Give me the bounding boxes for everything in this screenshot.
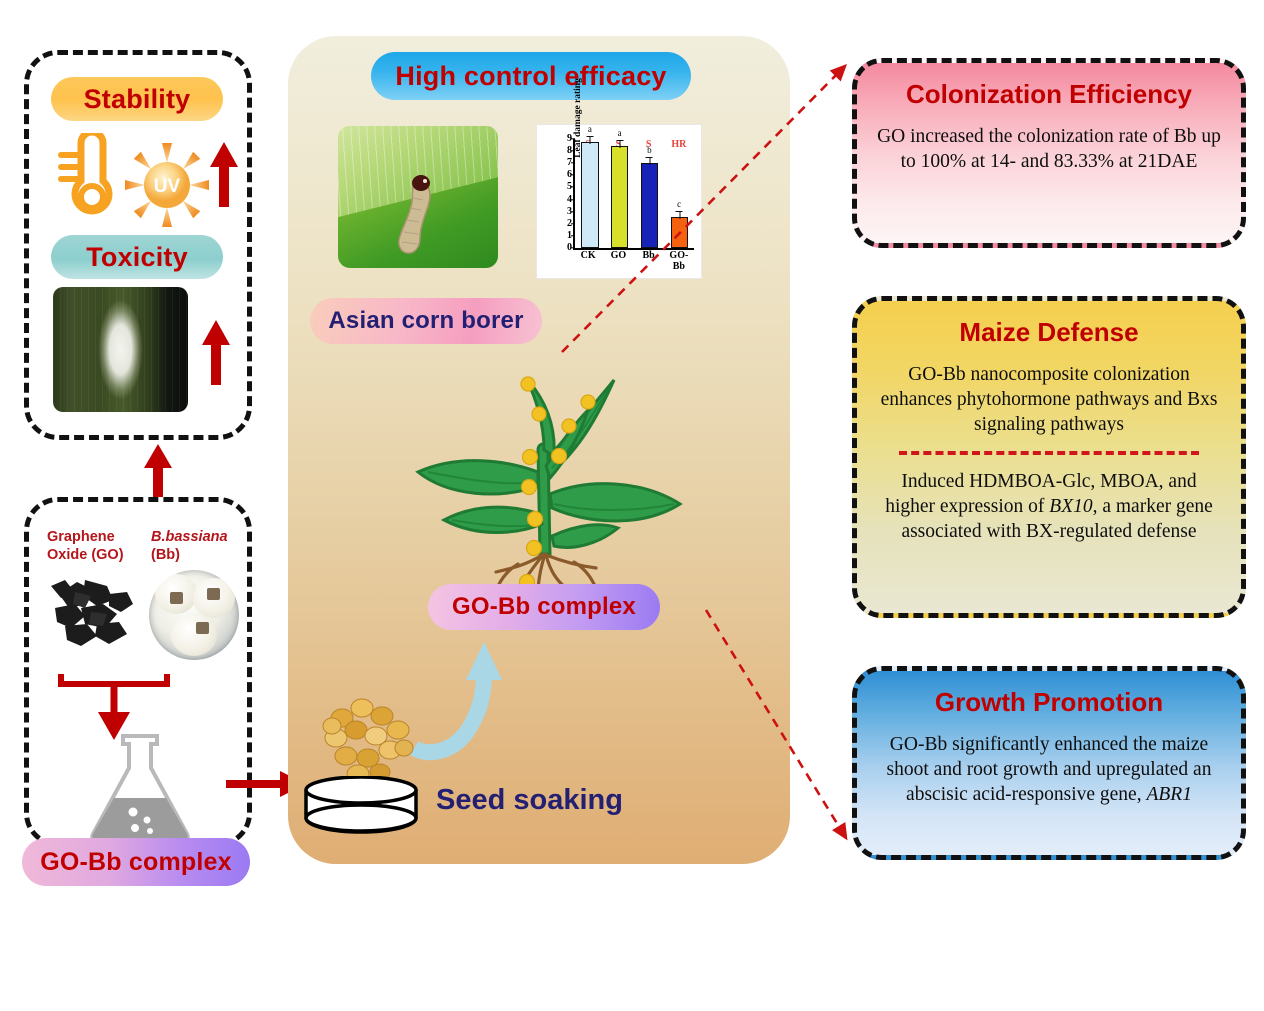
chart-plot-area: Leaf damage rating 0123456789 aabc — [573, 139, 694, 250]
seed-soaking-label: Seed soaking — [436, 784, 623, 817]
panel-divider-dashed — [899, 451, 1199, 455]
xtick-bb: Bb — [634, 250, 664, 272]
petri-dish — [302, 776, 420, 836]
chart-x-ticks: CK GO Bb GO-Bb — [573, 250, 694, 272]
chart-bar-cell: b — [635, 139, 665, 248]
chart-bar-cell: a — [605, 139, 635, 248]
chart-bars: aabc — [575, 139, 694, 248]
gene-name-bx10: BX10 — [1049, 496, 1092, 517]
bb-abbrev-label: (Bb) — [151, 546, 180, 564]
leaf-damage-bar-chart: S S S HR Leaf damage rating 0123456789 a… — [536, 124, 702, 279]
chart-bar-go: a — [611, 146, 628, 248]
asian-corn-borer-larva-photo — [338, 126, 498, 268]
stability-badge: Stability — [51, 77, 223, 121]
panel-title-growth-promotion: Growth Promotion — [857, 687, 1241, 718]
xtick-go: GO — [603, 250, 633, 272]
graphical-abstract: Stability — [0, 0, 1264, 1011]
panel-body-maize-defense-bottom: Induced HDMBOA-Glc, MBOA, and higher exp… — [857, 469, 1241, 544]
graphene-oxide-label: Graphene Oxide (GO) — [47, 528, 124, 564]
chart-bar-letter: b — [647, 145, 652, 155]
maize-defense-panel: Maize Defense GO-Bb nanocomposite coloni… — [852, 296, 1246, 618]
uv-sun-icon: UV — [117, 139, 217, 231]
toxicity-badge: Toxicity — [51, 235, 223, 279]
gobb-complex-badge-left: GO-Bb complex — [22, 838, 250, 886]
up-arrow-icon — [199, 317, 233, 389]
beauveria-bassiana-culture-dish — [149, 570, 239, 660]
chart-bar-letter: a — [588, 124, 592, 134]
graphene-oxide-powder-photo — [47, 574, 139, 656]
chart-bar-letter: c — [677, 199, 681, 209]
chart-bar-go-bb: c — [671, 217, 688, 248]
panel-title-colonization: Colonization Efficiency — [857, 79, 1241, 110]
chart-bar-bb: b — [641, 163, 658, 248]
gobb-complex-badge-center: GO-Bb complex — [428, 584, 660, 630]
xtick-gobb: GO-Bb — [664, 250, 694, 272]
high-control-efficacy-badge: High control efficacy — [371, 52, 691, 100]
chart-bar-cell: a — [575, 139, 605, 248]
panel-body-maize-defense-top: GO-Bb nanocomposite colonization enhance… — [857, 362, 1241, 437]
left-panels-connector-arrow — [138, 442, 178, 500]
up-arrow-icon — [207, 139, 241, 211]
chart-bar-letter: a — [618, 128, 622, 138]
panel-title-maize-defense: Maize Defense — [857, 317, 1241, 348]
center-workflow-panel: High control efficacy Asian corn borer — [288, 36, 790, 864]
bbassiana-label: B.bassiana — [151, 528, 228, 546]
erlenmeyer-flask-icon — [77, 730, 203, 846]
fungus-infected-leaf-photo — [53, 287, 188, 412]
panel-body-colonization: GO increased the colonization rate of Bb… — [857, 124, 1241, 174]
uv-label: UV — [154, 176, 181, 197]
graphene-line2: Oxide (GO) — [47, 547, 124, 563]
go-bb-synthesis-panel: Graphene Oxide (GO) B.bassiana (Bb) — [24, 497, 252, 847]
colonization-efficiency-panel: Colonization Efficiency GO increased the… — [852, 58, 1246, 248]
xtick-ck: CK — [573, 250, 603, 272]
panel-body-growth-promotion: GO-Bb significantly enhanced the maize s… — [857, 732, 1241, 807]
chart-bar-ck: a — [581, 142, 598, 248]
graphene-line1: Graphene — [47, 529, 115, 545]
chart-bar-cell: c — [664, 139, 694, 248]
asian-corn-borer-badge: Asian corn borer — [310, 298, 542, 344]
chart-error-bar — [586, 136, 593, 143]
chart-error-bar — [616, 140, 623, 147]
thermometer-uv-row: UV — [41, 133, 247, 225]
growth-promotion-panel: Growth Promotion GO-Bb significantly enh… — [852, 666, 1246, 860]
gene-name-abr1: ABR1 — [1146, 784, 1191, 805]
maize-seedling-illustration — [388, 354, 708, 609]
stability-toxicity-panel: Stability — [24, 50, 252, 440]
chart-error-bar — [676, 211, 683, 218]
chart-error-bar — [646, 157, 653, 164]
